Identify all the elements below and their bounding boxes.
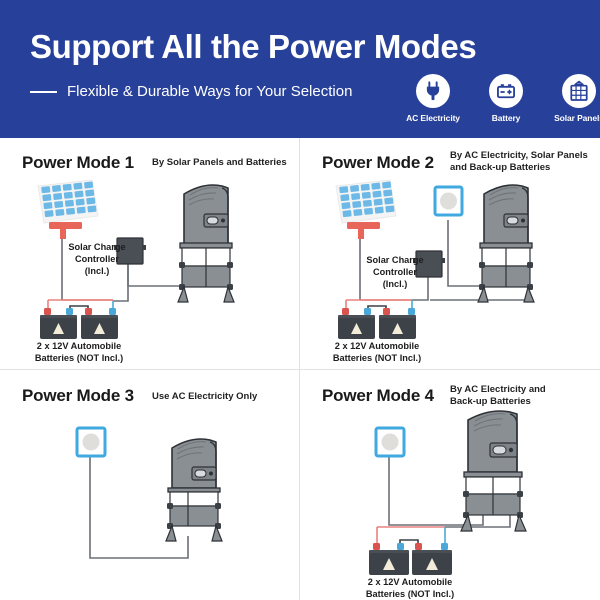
header-icon-ac-electricity: AC Electricity <box>404 74 462 123</box>
page-subtitle: Flexible & Durable Ways for Your Selecti… <box>67 83 352 100</box>
page-title: Support All the Power Modes <box>30 28 476 66</box>
ac-outlet-graphic <box>435 187 462 215</box>
battery-caption: 2 x 12V Automobile Batteries (NOT Incl.) <box>345 577 475 600</box>
battery-badge <box>489 74 523 108</box>
ac-outlet-graphic <box>376 428 404 456</box>
controller-caption-line: Solar Charge <box>350 255 440 267</box>
controller-caption-line: Controller <box>350 267 440 279</box>
batteries-graphic <box>40 308 118 339</box>
battery-caption-line: Batteries (NOT Incl.) <box>14 353 144 365</box>
diagram-power-mode-2 <box>300 138 600 369</box>
solar-panel-badge <box>562 74 596 108</box>
generator-graphic <box>461 411 526 531</box>
generator-graphic <box>478 185 534 302</box>
solar-panel-icon <box>568 80 590 102</box>
header-icon-battery: Battery <box>477 74 535 123</box>
controller-caption-line: (Incl.) <box>52 266 142 278</box>
wire-outlet-to-generator <box>389 453 445 525</box>
battery-caption: 2 x 12V Automobile Batteries (NOT Incl.) <box>14 341 144 364</box>
battery-caption-line: 2 x 12V Automobile <box>14 341 144 353</box>
header-subtitle-row: Flexible & Durable Ways for Your Selecti… <box>30 83 352 100</box>
dash-divider-icon <box>30 91 57 93</box>
battery-caption: 2 x 12V Automobile Batteries (NOT Incl.) <box>312 341 442 364</box>
header-icon-label: Battery <box>492 113 521 123</box>
diagram-power-mode-3 <box>0 370 299 600</box>
header-icon-label: AC Electricity <box>406 113 460 123</box>
battery-caption-line: 2 x 12V Automobile <box>345 577 475 589</box>
ac-outlet-graphic <box>77 428 105 456</box>
diagram-power-mode-1 <box>0 138 299 369</box>
controller-caption: Solar Charge Controller (Incl.) <box>52 242 142 278</box>
battery-caption-line: Batteries (NOT Incl.) <box>345 589 475 600</box>
generator-graphic <box>178 185 234 302</box>
solar-panel-graphic <box>336 180 396 239</box>
battery-icon <box>495 80 517 102</box>
controller-caption-line: (Incl.) <box>350 279 440 291</box>
header-icon-row: AC Electricity Battery <box>404 74 600 123</box>
ac-plug-icon <box>422 80 444 102</box>
controller-caption-line: Solar Charge <box>52 242 142 254</box>
header-icon-label: Solar Panels <box>554 113 600 123</box>
panel-power-mode-1: Power Mode 1 By Solar Panels and Batteri… <box>0 138 299 369</box>
batteries-graphic <box>338 308 416 339</box>
battery-caption-line: 2 x 12V Automobile <box>312 341 442 353</box>
panel-power-mode-2: Power Mode 2 By AC Electricity, Solar Pa… <box>300 138 600 369</box>
panel-power-mode-3: Power Mode 3 Use AC Electricity Only <box>0 370 299 600</box>
header-icon-solar-panels: Solar Panels <box>550 74 600 123</box>
battery-caption-line: Batteries (NOT Incl.) <box>312 353 442 365</box>
solar-panel-graphic <box>38 180 98 239</box>
generator-graphic <box>166 439 222 541</box>
panel-power-mode-4: Power Mode 4 By AC Electricity and Back-… <box>300 370 600 600</box>
header-banner: Support All the Power Modes Flexible & D… <box>0 0 600 138</box>
ac-plug-badge <box>416 74 450 108</box>
controller-caption-line: Controller <box>52 254 142 266</box>
diagram-power-mode-4 <box>300 370 600 600</box>
infographic-page: Support All the Power Modes Flexible & D… <box>0 0 600 600</box>
controller-caption: Solar Charge Controller (Incl.) <box>350 255 440 291</box>
batteries-graphic <box>369 543 452 575</box>
